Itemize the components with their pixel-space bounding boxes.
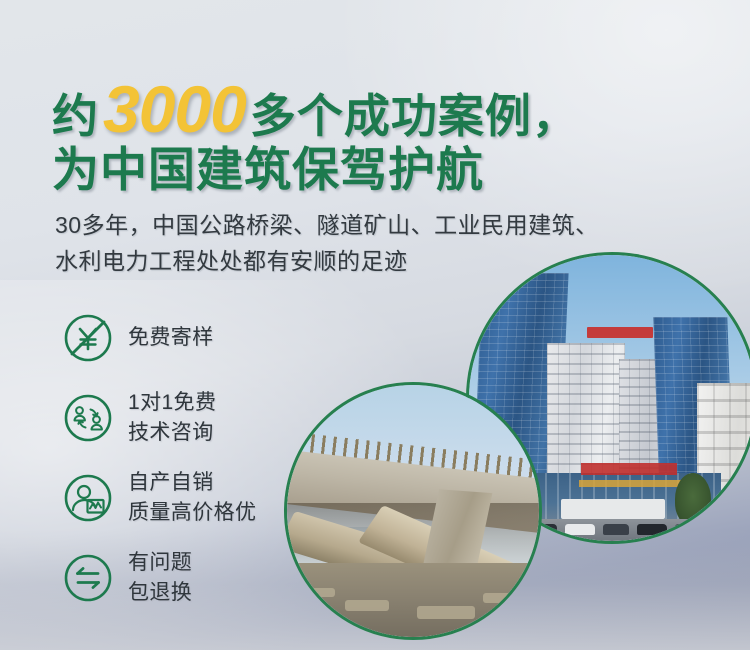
- entrance-red-signage: [581, 463, 677, 475]
- parked-car: [603, 524, 629, 535]
- one-on-one-consult-icon: [62, 392, 114, 444]
- self-produced-sales-icon: [62, 472, 114, 524]
- rooftop-red-signage: [587, 327, 653, 338]
- return-exchange-icon: [62, 552, 114, 604]
- bridge-photo-scene: [287, 385, 539, 637]
- parked-car: [675, 524, 699, 535]
- ground-rubble: [345, 600, 389, 611]
- bridge-photo: [284, 382, 542, 640]
- ground-rubble: [305, 588, 335, 597]
- feature-label-consult: 1对1免费 技术咨询: [128, 388, 216, 448]
- feature-label-free-sample: 免费寄样: [128, 323, 214, 353]
- feature-label-return-exchange: 有问题 包退换: [128, 548, 192, 608]
- headline-prefix: 约: [52, 90, 99, 142]
- headline-line-2: 为中国建筑保驾护航: [52, 146, 579, 208]
- headline-subline: 为中国建筑保驾护航: [52, 143, 484, 196]
- promo-banner: 约3000多个成功案例， 为中国建筑保驾护航 30多年，中国公路桥梁、隧道矿山、…: [0, 0, 750, 650]
- street-tree: [675, 473, 711, 525]
- entrance-canopy: [561, 499, 665, 519]
- headline-line-1: 约3000多个成功案例，: [52, 76, 579, 142]
- subtitle-line-1: 30多年，中国公路桥梁、隧道矿山、工业民用建筑、: [55, 208, 599, 244]
- parked-car: [637, 524, 667, 535]
- feature-list: 免费寄样 1对1免费 技术咨询: [62, 298, 302, 618]
- headline-suffix: 多个成功案例，: [250, 90, 579, 142]
- ground-rubble: [483, 593, 521, 603]
- parked-car: [565, 524, 595, 535]
- headline: 约3000多个成功案例， 为中国建筑保驾护航: [52, 76, 579, 208]
- entrance-gold-signage: [579, 480, 683, 487]
- ground-rubble: [417, 606, 475, 619]
- feature-item-return-exchange: 有问题 包退换: [62, 538, 302, 618]
- headline-number: 3000: [99, 72, 250, 146]
- feature-label-self-produced: 自产自销 质量高价格优: [128, 468, 256, 528]
- feature-item-consult: 1对1免费 技术咨询: [62, 378, 302, 458]
- feature-item-self-produced: 自产自销 质量高价格优: [62, 458, 302, 538]
- feature-item-free-sample: 免费寄样: [62, 298, 302, 378]
- free-sample-icon: [62, 312, 114, 364]
